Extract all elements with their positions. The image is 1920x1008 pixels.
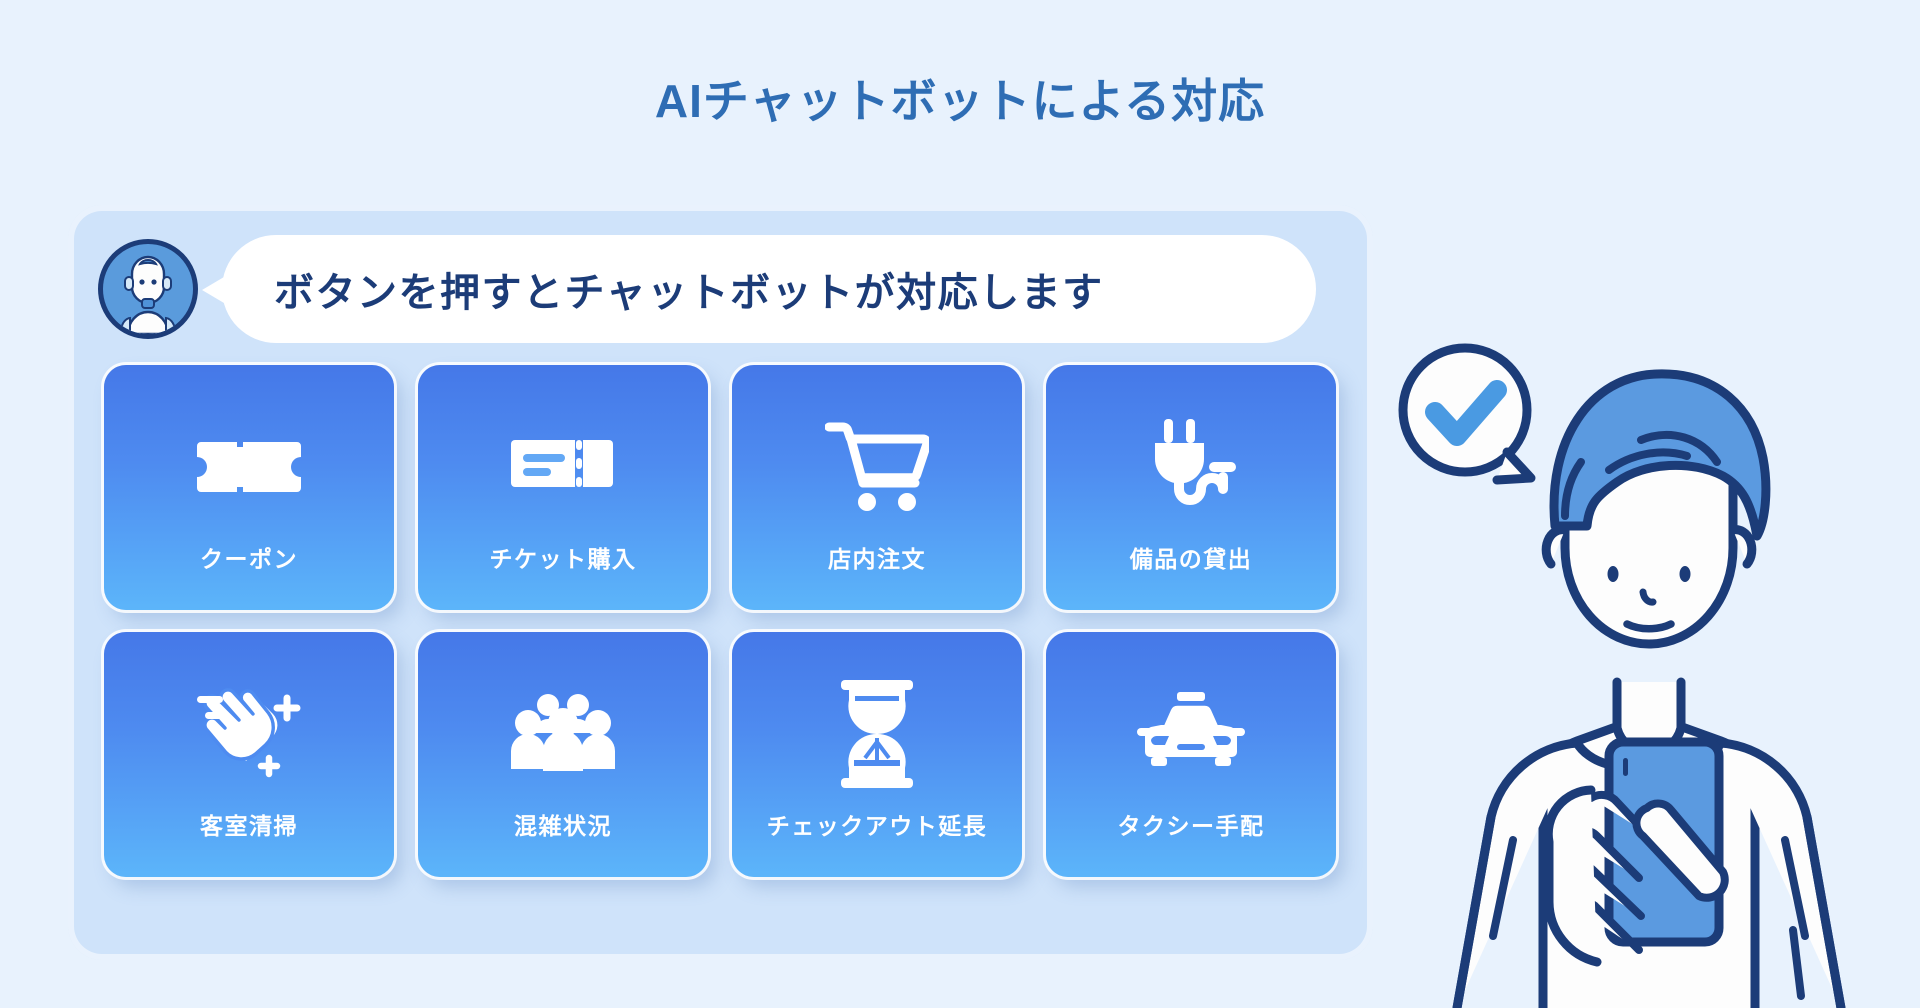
shopping-cart-icon xyxy=(818,408,936,526)
tile-label: 店内注文 xyxy=(828,540,926,574)
tile-crowd-status[interactable]: 混雑状況 xyxy=(418,632,708,877)
tile-in-store-order[interactable]: 店内注文 xyxy=(732,365,1022,610)
tile-equipment-rental[interactable]: 備品の貸出 xyxy=(1046,365,1336,610)
service-tile-grid: クーポン チケット購入 xyxy=(90,365,1350,877)
ticket-purchase-icon xyxy=(504,408,622,526)
tile-label: 備品の貸出 xyxy=(1130,540,1253,574)
tile-label: 客室清掃 xyxy=(200,807,298,841)
assistant-row: ボタンを押すとチャットボットが対応します xyxy=(98,235,1348,345)
tile-taxi-arrangement[interactable]: タクシー手配 xyxy=(1046,632,1336,877)
assistant-bubble-text: ボタンを押すとチャットボットが対応します xyxy=(274,260,1104,318)
tile-coupon[interactable]: クーポン xyxy=(104,365,394,610)
screen-root: AIチャットボットによる対応 xyxy=(0,0,1920,1008)
tile-label: チケット購入 xyxy=(490,540,637,574)
cleaning-hand-wipe-icon xyxy=(190,675,308,793)
coupon-ticket-icon xyxy=(190,408,308,526)
tile-label: 混雑状況 xyxy=(514,807,612,841)
hourglass-icon xyxy=(818,675,936,793)
tile-ticket-purchase[interactable]: チケット購入 xyxy=(418,365,708,610)
tile-checkout-extension[interactable]: チェックアウト延長 xyxy=(732,632,1022,877)
taxi-car-icon xyxy=(1132,675,1250,793)
tile-label: タクシー手配 xyxy=(1118,807,1265,841)
tile-room-cleaning[interactable]: 客室清掃 xyxy=(104,632,394,877)
assistant-speech-bubble: ボタンを押すとチャットボットが対応します xyxy=(222,235,1316,343)
tile-label: チェックアウト延長 xyxy=(767,807,988,841)
people-group-icon xyxy=(504,675,622,793)
chatbot-robot-avatar-icon xyxy=(98,239,198,339)
tile-label: クーポン xyxy=(200,540,298,574)
page-title: AIチャットボットによる対応 xyxy=(0,78,1920,124)
man-holding-smartphone-illustration xyxy=(1395,230,1895,1008)
chatbot-panel: ボタンを押すとチャットボットが対応します クーポン xyxy=(68,205,1373,960)
power-plug-icon xyxy=(1132,408,1250,526)
